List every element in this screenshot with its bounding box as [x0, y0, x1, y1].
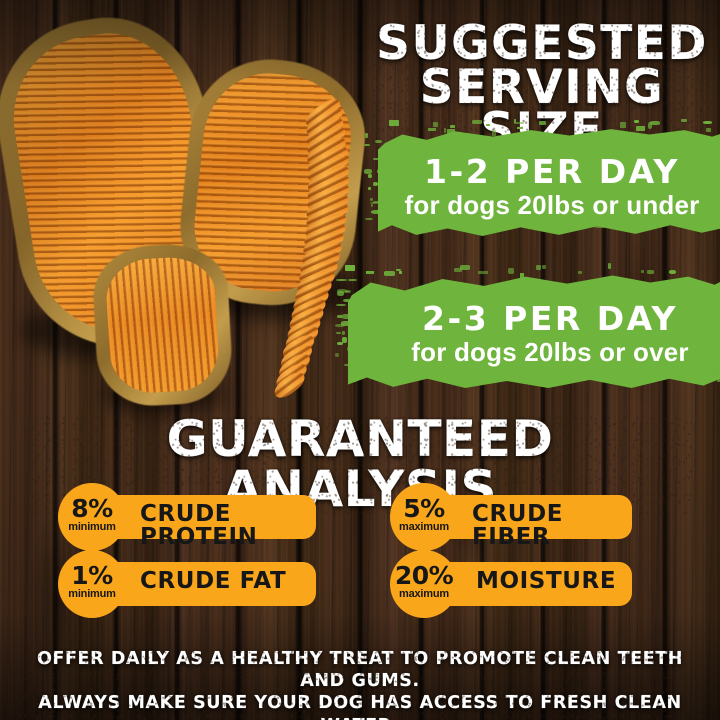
instruction-line-2: ALWAYS MAKE SURE YOUR DOG HAS ACCESS TO …: [18, 692, 702, 720]
instruction-line-1: OFFER DAILY AS A HEALTHY TREAT TO PROMOT…: [18, 648, 702, 692]
paint-fleck: [366, 271, 374, 274]
paint-fleck: [706, 128, 711, 131]
analysis-percent: 8%: [58, 496, 126, 521]
paint-fleck: [399, 271, 402, 273]
analysis-qualifier: minimum: [58, 522, 126, 533]
analysis-name: CRUDE FAT: [140, 570, 286, 593]
paint-fleck: [492, 130, 496, 136]
serving-banner-2: 2-3 PER DAY for dogs 20lbs or over: [348, 272, 720, 388]
analysis-item-crude-fat: 1% minimum CRUDE FAT: [58, 550, 316, 618]
analysis-item-crude-protein: 8% minimum CRUDE PROTEIN: [58, 483, 316, 551]
analysis-name: CRUDE PROTEIN: [140, 503, 316, 549]
serving-subtext-1: for dogs 20lbs or under: [378, 190, 720, 221]
infographic-canvas: SUGGESTED SERVING SIZE 1-2 PER DAY for d…: [0, 0, 720, 720]
analysis-qualifier: minimum: [58, 589, 126, 600]
serving-headline-1: 1-2 PER DAY: [378, 152, 720, 191]
analysis-percent: 20%: [390, 563, 458, 588]
analysis-qualifier: maximum: [390, 589, 458, 600]
paint-fleck: [348, 279, 357, 281]
serving-subtext-2: for dogs 20lbs or over: [374, 337, 720, 368]
paint-fleck: [517, 127, 524, 129]
paint-fleck: [444, 128, 446, 133]
analysis-percent: 1%: [58, 563, 126, 588]
analysis-name: CRUDE FIBER: [472, 503, 632, 549]
feeding-instructions: OFFER DAILY AS A HEALTHY TREAT TO PROMOT…: [18, 648, 702, 720]
analysis-name: MOISTURE: [476, 570, 616, 593]
analysis-percent: 5%: [390, 496, 458, 521]
paint-fleck: [428, 128, 436, 131]
analysis-item-crude-fiber: 5% maximum CRUDE FIBER: [390, 483, 632, 551]
paint-fleck: [384, 271, 394, 277]
analysis-item-moisture: 20% maximum MOISTURE: [390, 550, 632, 618]
analysis-qualifier: maximum: [390, 522, 458, 533]
serving-headline-2: 2-3 PER DAY: [374, 299, 720, 338]
paint-fleck: [478, 271, 488, 274]
serving-banner-1: 1-2 PER DAY for dogs 20lbs or under: [378, 128, 720, 236]
paint-fleck: [578, 271, 582, 274]
